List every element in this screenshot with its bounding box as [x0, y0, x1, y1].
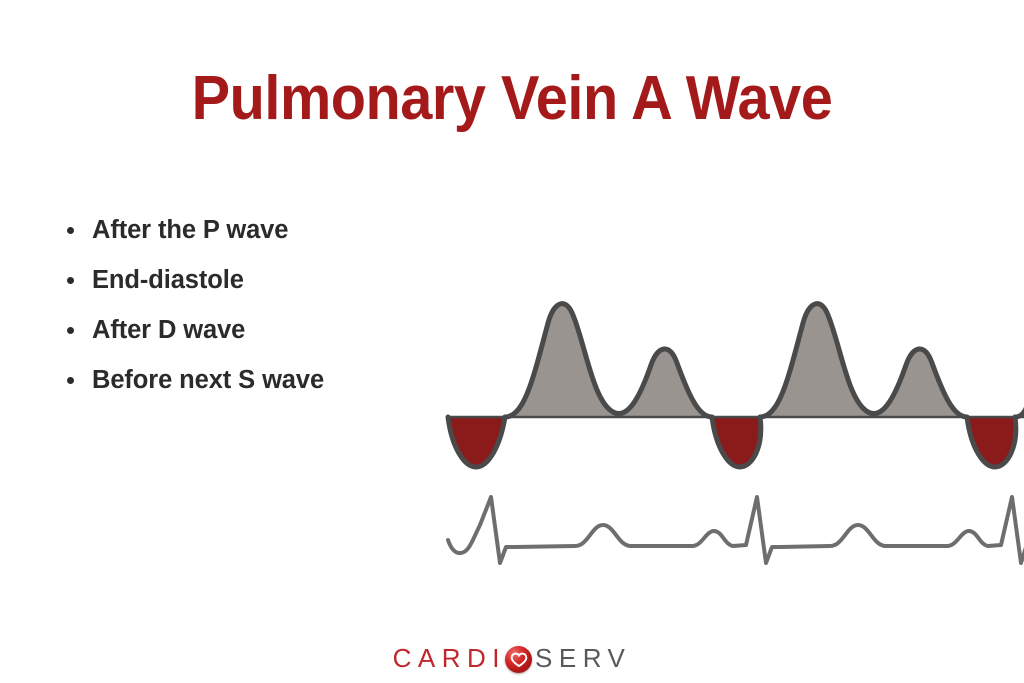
slide-canvas: Pulmonary Vein A Wave After the P wave E… [0, 0, 1024, 683]
a-wave-fill-group [448, 417, 1016, 467]
pulmonary-vein-waveform-figure: S [430, 225, 1024, 585]
bullet-list: After the P wave End-diastole After D wa… [54, 205, 492, 405]
logo-suffix-text: SERV [535, 643, 631, 673]
logo-wordmark: CARDI SERV [393, 645, 632, 673]
ecg-trace [448, 497, 1024, 563]
page-title: Pulmonary Vein A Wave [36, 62, 988, 136]
logo-prefix-text: CARDI [393, 643, 506, 673]
cardioserv-logo: CARDI SERV [0, 638, 1024, 680]
heart-in-circle-icon [505, 646, 532, 673]
